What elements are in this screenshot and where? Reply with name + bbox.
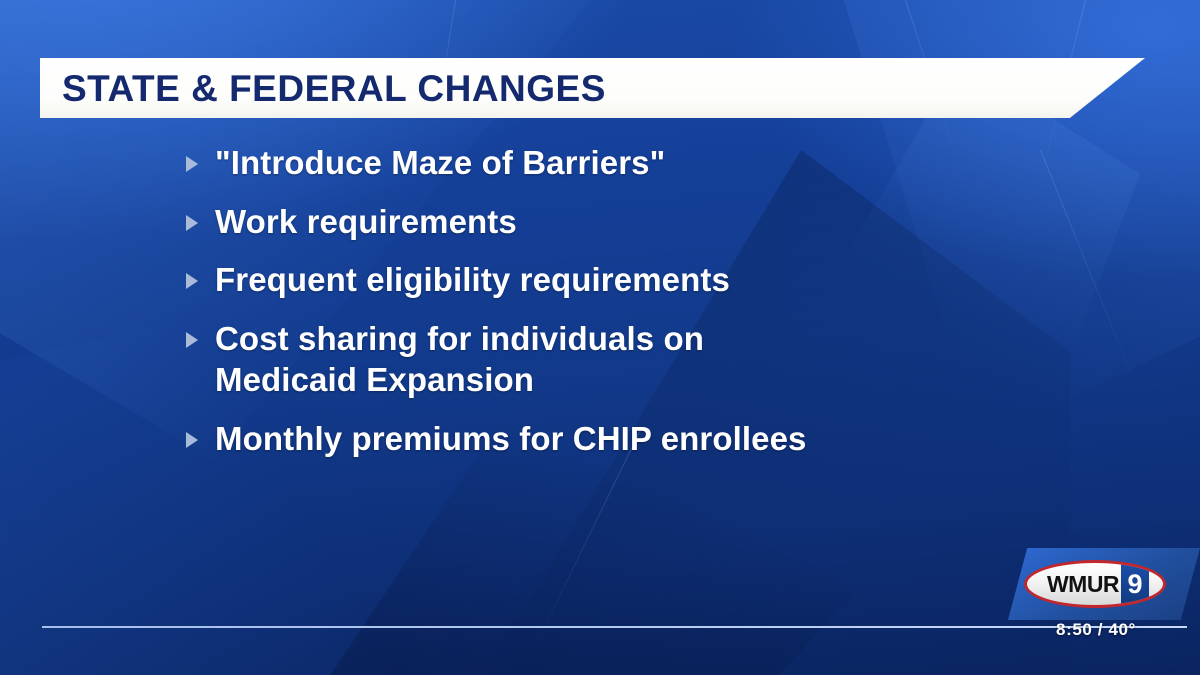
list-item-line: "Introduce Maze of Barriers": [215, 144, 665, 181]
list-item-line: Cost sharing for individuals on: [215, 320, 704, 357]
list-item-text: Monthly premiums for CHIP enrollees: [215, 418, 807, 460]
list-item-line: Monthly premiums for CHIP enrollees: [215, 420, 807, 457]
time-temperature-readout: 8:50 / 40°: [1000, 620, 1192, 640]
channel-number-badge: 9: [1121, 563, 1149, 605]
triangle-right-icon: [186, 215, 198, 231]
triangle-right-icon: [186, 332, 198, 348]
triangle-right-icon: [186, 156, 198, 172]
list-item-text: Cost sharing for individuals on Medicaid…: [215, 318, 704, 401]
triangle-right-icon: [186, 432, 198, 448]
title-banner: STATE & FEDERAL CHANGES: [40, 58, 1145, 118]
page-title: STATE & FEDERAL CHANGES: [62, 70, 606, 107]
station-bug: WMUR 9 8:50 / 40°: [1000, 548, 1200, 675]
list-item-line: Frequent eligibility requirements: [215, 261, 730, 298]
list-item-line-2: Medicaid Expansion: [215, 359, 704, 401]
list-item-text: Frequent eligibility requirements: [215, 259, 730, 301]
list-item: Work requirements: [186, 201, 1086, 243]
list-item-text: "Introduce Maze of Barriers": [215, 142, 665, 184]
triangle-right-icon: [186, 273, 198, 289]
wmur-logo: WMUR 9: [1024, 560, 1166, 608]
list-item-text: Work requirements: [215, 201, 517, 243]
list-item: Monthly premiums for CHIP enrollees: [186, 418, 1086, 460]
list-item: Cost sharing for individuals on Medicaid…: [186, 318, 1086, 401]
list-item-line: Work requirements: [215, 203, 517, 240]
broadcast-graphic-stage: STATE & FEDERAL CHANGES "Introduce Maze …: [0, 0, 1200, 675]
list-item: "Introduce Maze of Barriers": [186, 142, 1086, 184]
wmur-wordmark: WMUR: [1041, 573, 1121, 596]
bullet-list: "Introduce Maze of Barriers" Work requir…: [186, 142, 1086, 476]
list-item: Frequent eligibility requirements: [186, 259, 1086, 301]
